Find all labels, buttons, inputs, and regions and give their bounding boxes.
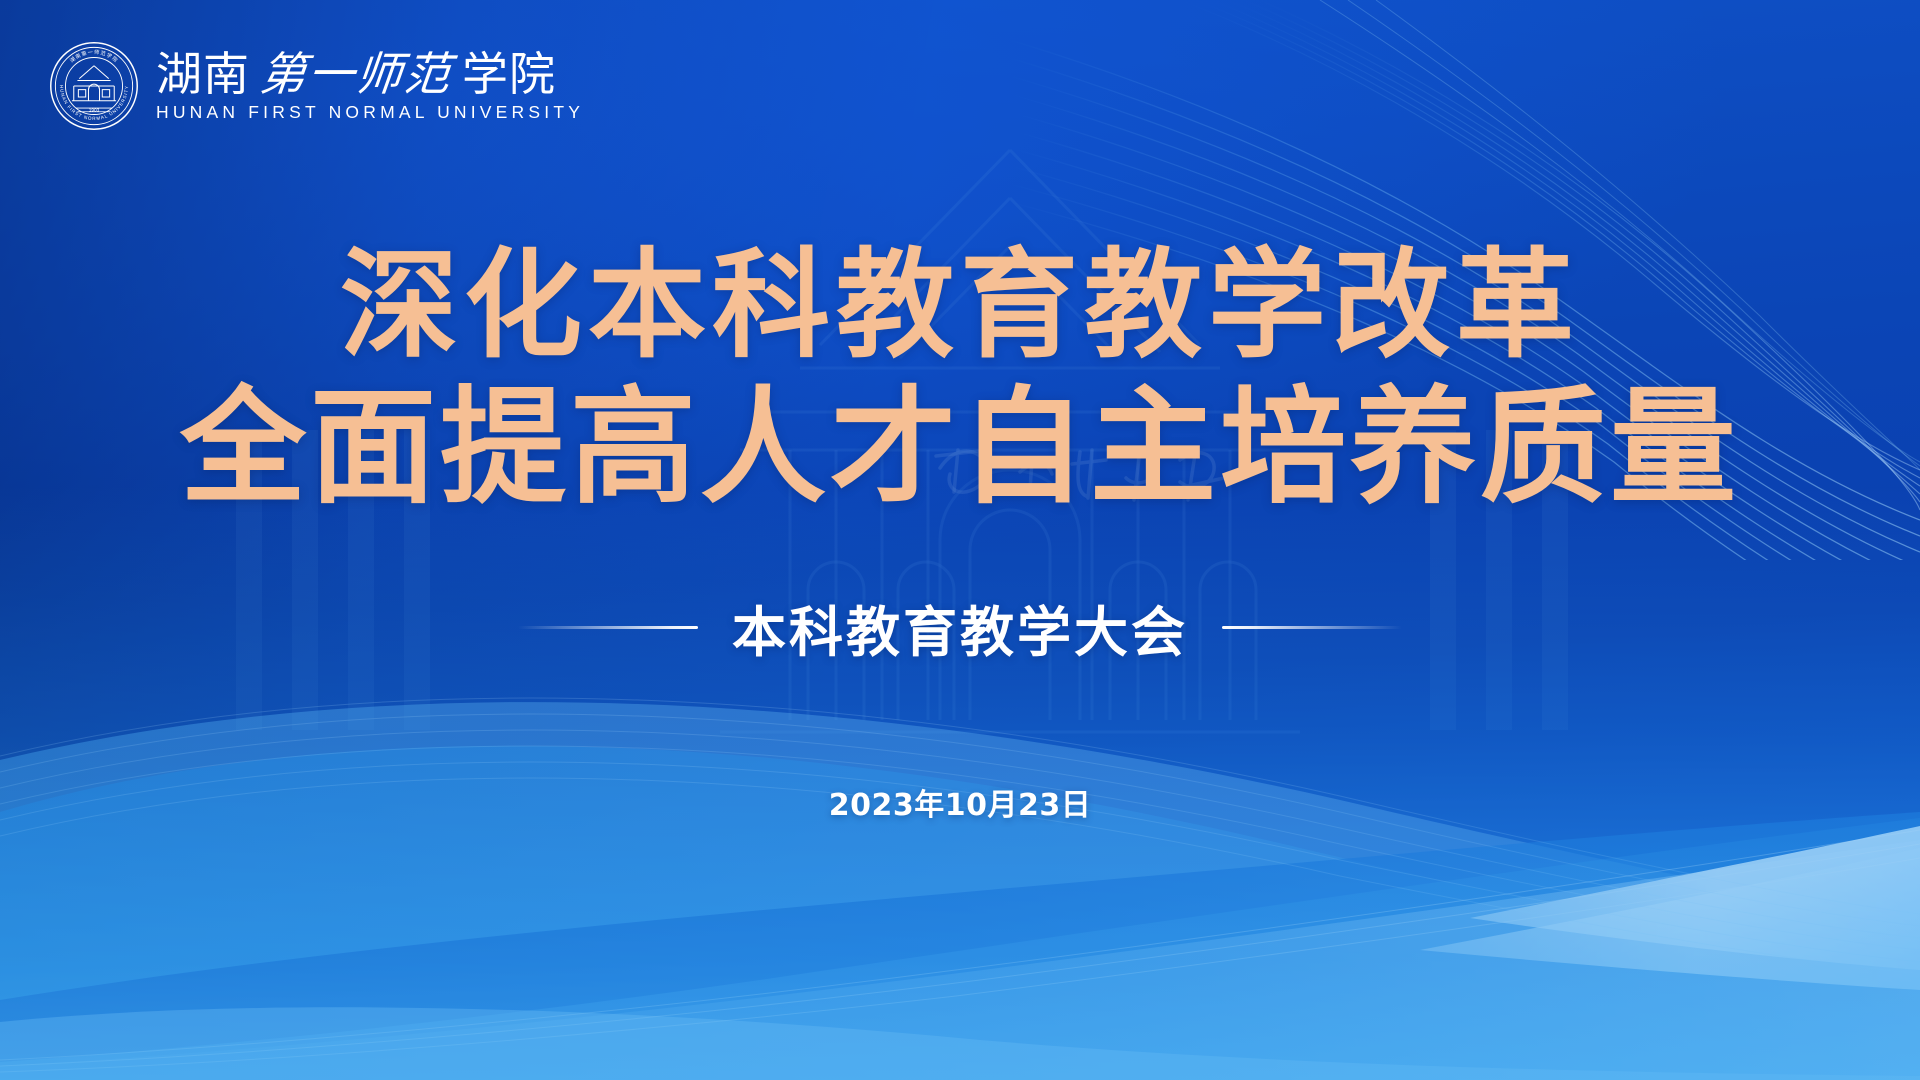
svg-text:湖南第一师范学院: 湖南第一师范学院 xyxy=(68,48,120,65)
logo-name-script: 第一师范 xyxy=(250,51,463,97)
headline-line-2: 全面提高人才自主培养质量 xyxy=(0,374,1920,521)
event-date: 2023年10月23日 xyxy=(0,780,1920,824)
subtitle-row: 本科教育教学大会 xyxy=(0,588,1920,667)
conference-banner: 1903 湖南第一师范学院 HUNAN FIRST NORMAL UNIVERS… xyxy=(0,0,1920,1080)
logo-name-part2: 学院 xyxy=(462,51,556,97)
logo-english-name: HUNAN FIRST NORMAL UNIVERSITY xyxy=(156,104,584,122)
logo-text-block: 湖南 第一师范 学院 HUNAN FIRST NORMAL UNIVERSITY xyxy=(156,51,584,122)
headline-line-1: 深化本科教育教学改革 xyxy=(0,236,1920,374)
subtitle-text: 本科教育教学大会 xyxy=(732,588,1188,667)
subtitle-rule-left xyxy=(518,626,698,629)
subtitle-rule-right xyxy=(1222,626,1402,629)
university-logo: 1903 湖南第一师范学院 HUNAN FIRST NORMAL UNIVERS… xyxy=(48,40,584,132)
logo-name-part1: 湖南 xyxy=(156,51,250,97)
page-title: 深化本科教育教学改革 全面提高人才自主培养质量 xyxy=(0,236,1920,521)
svg-text:1903: 1903 xyxy=(89,107,100,113)
logo-chinese-name: 湖南 第一师范 学院 xyxy=(156,51,584,97)
university-seal-icon: 1903 湖南第一师范学院 HUNAN FIRST NORMAL UNIVERS… xyxy=(48,40,140,132)
